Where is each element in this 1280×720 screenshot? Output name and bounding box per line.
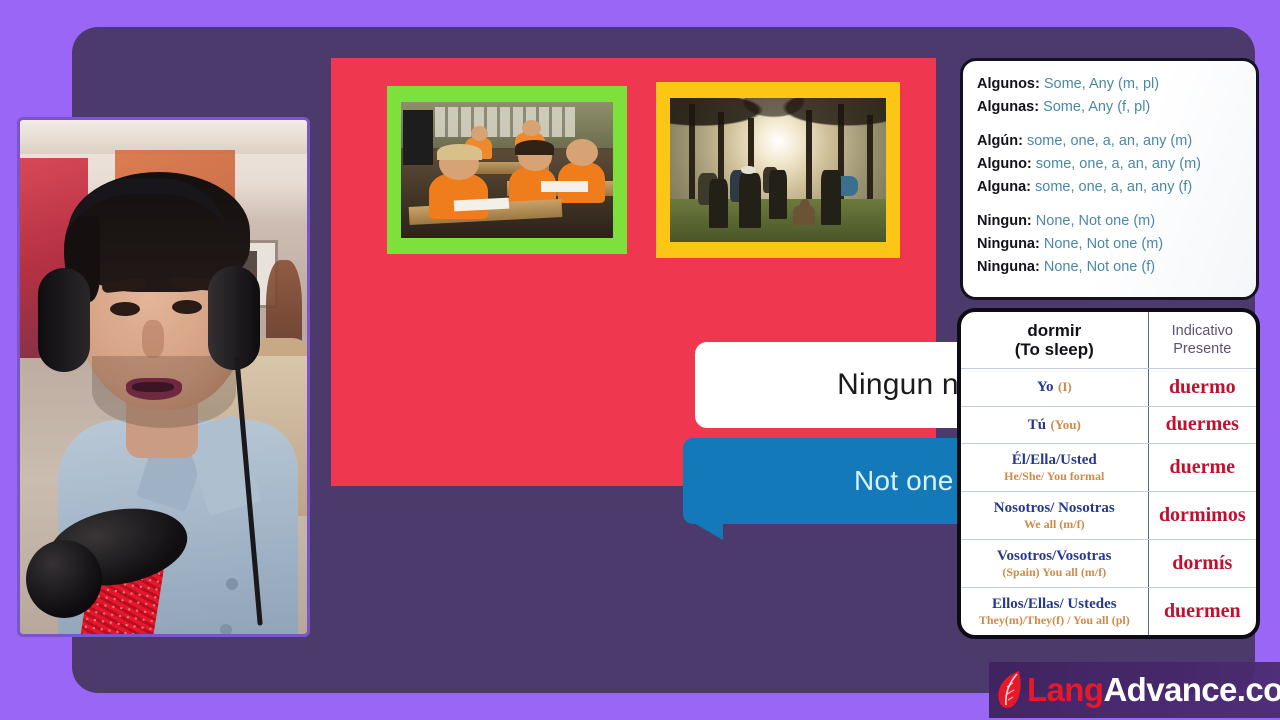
webcam-shirt-button <box>220 624 232 636</box>
vocabulary-card: Algunos: Some, Any (m, pl) Algunas: Some… <box>960 58 1259 300</box>
verb-form-cell: duerme <box>1148 443 1256 491</box>
verb-form-cell: duermo <box>1148 369 1256 406</box>
vocab-english: some, one, a, an, any (m) <box>1036 156 1201 172</box>
webcam-shirt-button <box>226 578 238 590</box>
table-row: Ellos/Ellas/ Ustedes They(m)/They(f) / Y… <box>961 588 1256 635</box>
logo-text-advance: Advance.com <box>1103 671 1280 708</box>
pronoun-cell: Tú (You) <box>961 406 1148 443</box>
verb-header-cell: dormir (To sleep) <box>961 312 1148 369</box>
pronoun-spanish: Yo <box>1037 379 1054 395</box>
verb-form: duermen <box>1164 600 1241 622</box>
vocab-spanish: Alguno: <box>977 156 1032 172</box>
pronoun-cell: Ellos/Ellas/ Ustedes They(m)/They(f) / Y… <box>961 588 1148 635</box>
vocab-english: None, Not one (f) <box>1044 259 1155 275</box>
vocab-line: Ninguna: None, Not one (m) <box>977 233 1256 256</box>
vocab-english: some, one, a, an, any (m) <box>1027 133 1192 149</box>
pronoun-english: We all (m/f) <box>964 517 1145 531</box>
pronoun-cell: Yo (I) <box>961 369 1148 406</box>
verb-form: dormimos <box>1159 504 1246 526</box>
conjugation-card: dormir (To sleep) Indicativo Presente Yo… <box>957 308 1260 639</box>
pronoun-english: (Spain) You all (m/f) <box>964 565 1145 579</box>
slide-stage: Ningun niño duerme Not one kid sleeps Al… <box>0 0 1280 720</box>
leaf-icon <box>995 669 1025 711</box>
headphones-earcup-right-icon <box>208 266 260 370</box>
verb-form: dormís <box>1172 552 1232 574</box>
vocab-group-spacer <box>977 199 1256 210</box>
bubble-tail-left <box>687 519 723 540</box>
pronoun-spanish: Tú <box>1028 417 1046 433</box>
verb-translation: (To sleep) <box>964 340 1145 359</box>
table-row: Vosotros/Vosotras (Spain) You all (m/f) … <box>961 540 1256 588</box>
verb-infinitive: dormir <box>964 321 1145 340</box>
vocab-english: Some, Any (m, pl) <box>1044 76 1159 92</box>
pronoun-cell: Vosotros/Vosotras (Spain) You all (m/f) <box>961 540 1148 588</box>
hikers-photo <box>656 82 900 258</box>
webcam-ceiling-trim <box>20 120 307 154</box>
vocab-line: Algún: some, one, a, an, any (m) <box>977 130 1256 153</box>
table-header-row: dormir (To sleep) Indicativo Presente <box>961 312 1256 369</box>
langadvance-logo[interactable]: LangAdvance.com <box>989 662 1280 718</box>
pronoun-spanish: Vosotros/Vosotras <box>964 548 1145 565</box>
classroom-photo <box>387 86 627 254</box>
verb-form-cell: dormimos <box>1148 491 1256 539</box>
pronoun-cell: Nosotros/ Nosotras We all (m/f) <box>961 491 1148 539</box>
tense-header-cell: Indicativo Presente <box>1148 312 1256 369</box>
vocab-spanish: Algunas: <box>977 99 1039 115</box>
webcam-eye-left <box>110 302 140 316</box>
verb-form-cell: dormís <box>1148 540 1256 588</box>
vocab-spanish: Ninguna: <box>977 236 1040 252</box>
pronoun-cell: Él/Ella/Usted He/She/ You formal <box>961 443 1148 491</box>
lesson-content-panel: Ningun niño duerme Not one kid sleeps <box>331 58 936 486</box>
verb-form: duermo <box>1169 376 1236 398</box>
verb-form: duerme <box>1170 456 1236 478</box>
vocab-line: Alguno: some, one, a, an, any (m) <box>977 153 1256 176</box>
verb-form-cell: duermes <box>1148 406 1256 443</box>
pronoun-english: (I) <box>1058 379 1072 394</box>
vocab-group-spacer <box>977 119 1256 130</box>
table-row: Yo (I) duermo <box>961 369 1256 406</box>
headphones-earcup-left-icon <box>38 268 90 372</box>
pronoun-english: (You) <box>1051 417 1081 432</box>
table-row: Él/Ella/Usted He/She/ You formal duerme <box>961 443 1256 491</box>
table-row: Nosotros/ Nosotras We all (m/f) dormimos <box>961 491 1256 539</box>
pronoun-english: They(m)/They(f) / You all (pl) <box>964 613 1145 627</box>
logo-text-lang: Lang <box>1027 671 1103 708</box>
microphone-mount-knob <box>26 540 102 618</box>
mood-label: Indicativo <box>1152 322 1253 340</box>
conjugation-table: dormir (To sleep) Indicativo Presente Yo… <box>961 312 1256 635</box>
vocab-spanish: Algunos: <box>977 76 1040 92</box>
vocab-line: Algunos: Some, Any (m, pl) <box>977 73 1256 96</box>
webcam-mouth-inner <box>132 382 174 392</box>
vocab-line: Ningun: None, Not one (m) <box>977 210 1256 233</box>
pronoun-english: He/She/ You formal <box>964 469 1145 483</box>
logo-text: LangAdvance.com <box>1027 671 1280 709</box>
vocab-english: None, Not one (m) <box>1044 236 1163 252</box>
vocab-english: None, Not one (m) <box>1036 213 1155 229</box>
webcam-nose <box>142 320 164 358</box>
vocab-english: Some, Any (f, pl) <box>1043 99 1150 115</box>
vocab-line: Algunas: Some, Any (f, pl) <box>977 96 1256 119</box>
instructor-webcam[interactable] <box>17 117 310 637</box>
pronoun-spanish: Nosotros/ Nosotras <box>964 500 1145 517</box>
verb-form-cell: duermen <box>1148 588 1256 635</box>
tense-label: Presente <box>1152 340 1253 358</box>
pronoun-spanish: Ellos/Ellas/ Ustedes <box>964 596 1145 613</box>
vocab-spanish: Ninguna: <box>977 259 1040 275</box>
table-row: Tú (You) duermes <box>961 406 1256 443</box>
verb-form: duermes <box>1166 413 1239 435</box>
vocab-spanish: Alguna: <box>977 179 1031 195</box>
vocab-spanish: Algún: <box>977 133 1023 149</box>
vocab-spanish: Ningun: <box>977 213 1032 229</box>
vocab-line: Ninguna: None, Not one (f) <box>977 256 1256 279</box>
vocab-english: some, one, a, an, any (f) <box>1035 179 1192 195</box>
vocab-line: Alguna: some, one, a, an, any (f) <box>977 176 1256 199</box>
webcam-eye-right <box>172 300 202 314</box>
pronoun-spanish: Él/Ella/Usted <box>964 452 1145 469</box>
